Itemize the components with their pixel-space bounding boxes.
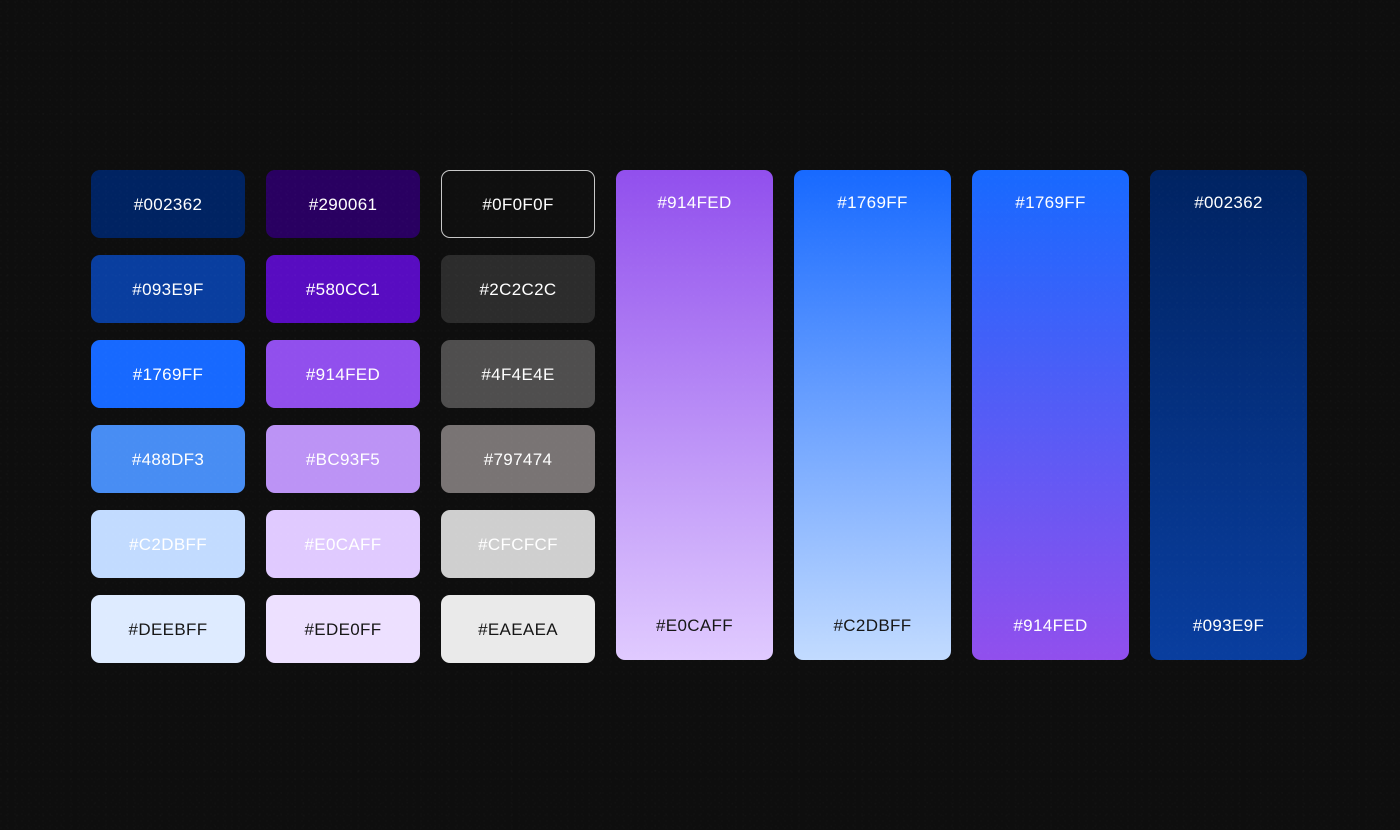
color-swatch[interactable]: #093E9F: [91, 255, 245, 323]
color-swatch[interactable]: #4F4E4E: [441, 340, 595, 408]
gradient-ramp-blue-to-purple-ramp[interactable]: #1769FF#914FED: [972, 170, 1129, 660]
swatch-hex-label: #488DF3: [132, 451, 204, 468]
color-swatch[interactable]: #CFCFCF: [441, 510, 595, 578]
color-swatch[interactable]: #0F0F0F: [441, 170, 595, 238]
color-swatch[interactable]: #EDE0FF: [266, 595, 420, 663]
color-swatch[interactable]: #914FED: [266, 340, 420, 408]
color-swatch[interactable]: #C2DBFF: [91, 510, 245, 578]
color-swatch[interactable]: #2C2C2C: [441, 255, 595, 323]
swatch-hex-label: #4F4E4E: [481, 366, 554, 383]
swatch-hex-label: #CFCFCF: [478, 536, 558, 553]
swatch-hex-label: #1769FF: [133, 366, 203, 383]
swatch-hex-label: #2C2C2C: [479, 281, 556, 298]
scale-column-purple-scale: #290061#580CC1#914FED#BC93F5#E0CAFF#EDE0…: [266, 170, 420, 663]
color-swatch[interactable]: #EAEAEA: [441, 595, 595, 663]
color-swatch[interactable]: #002362: [91, 170, 245, 238]
swatch-hex-label: #BC93F5: [306, 451, 380, 468]
gradient-start-hex-label: #002362: [1194, 194, 1263, 211]
gradient-ramp-navy-to-blue-ramp[interactable]: #002362#093E9F: [1150, 170, 1307, 660]
gradient-start-hex-label: #1769FF: [837, 194, 907, 211]
swatch-hex-label: #C2DBFF: [129, 536, 207, 553]
swatch-hex-label: #580CC1: [306, 281, 380, 298]
swatch-hex-label: #797474: [484, 451, 553, 468]
color-swatch[interactable]: #797474: [441, 425, 595, 493]
swatch-hex-label: #DEEBFF: [129, 621, 208, 638]
color-swatch[interactable]: #1769FF: [91, 340, 245, 408]
swatch-hex-label: #002362: [134, 196, 203, 213]
gradient-ramp-blue-to-pale-blue-ramp[interactable]: #1769FF#C2DBFF: [794, 170, 951, 660]
scale-column-neutral-scale: #0F0F0F#2C2C2C#4F4E4E#797474#CFCFCF#EAEA…: [441, 170, 595, 663]
swatch-hex-label: #E0CAFF: [304, 536, 381, 553]
color-swatch[interactable]: #DEEBFF: [91, 595, 245, 663]
swatch-hex-label: #EDE0FF: [304, 621, 381, 638]
color-swatch[interactable]: #E0CAFF: [266, 510, 420, 578]
color-swatch[interactable]: #290061: [266, 170, 420, 238]
color-swatch[interactable]: #BC93F5: [266, 425, 420, 493]
swatch-hex-label: #914FED: [306, 366, 380, 383]
swatch-hex-label: #290061: [309, 196, 378, 213]
swatch-hex-label: #093E9F: [132, 281, 203, 298]
swatch-hex-label: #0F0F0F: [482, 196, 553, 213]
gradient-start-hex-label: #1769FF: [1015, 194, 1085, 211]
gradient-end-hex-label: #E0CAFF: [656, 617, 733, 634]
color-swatch[interactable]: #488DF3: [91, 425, 245, 493]
gradient-end-hex-label: #C2DBFF: [834, 617, 912, 634]
color-palette-board: #002362#093E9F#1769FF#488DF3#C2DBFF#DEEB…: [91, 170, 1307, 663]
swatch-hex-label: #EAEAEA: [478, 621, 558, 638]
scale-column-blue-scale: #002362#093E9F#1769FF#488DF3#C2DBFF#DEEB…: [91, 170, 245, 663]
gradient-ramp-purple-to-lavender-ramp[interactable]: #914FED#E0CAFF: [616, 170, 773, 660]
gradient-end-hex-label: #093E9F: [1193, 617, 1264, 634]
color-swatch[interactable]: #580CC1: [266, 255, 420, 323]
gradient-end-hex-label: #914FED: [1013, 617, 1087, 634]
gradient-start-hex-label: #914FED: [657, 194, 731, 211]
